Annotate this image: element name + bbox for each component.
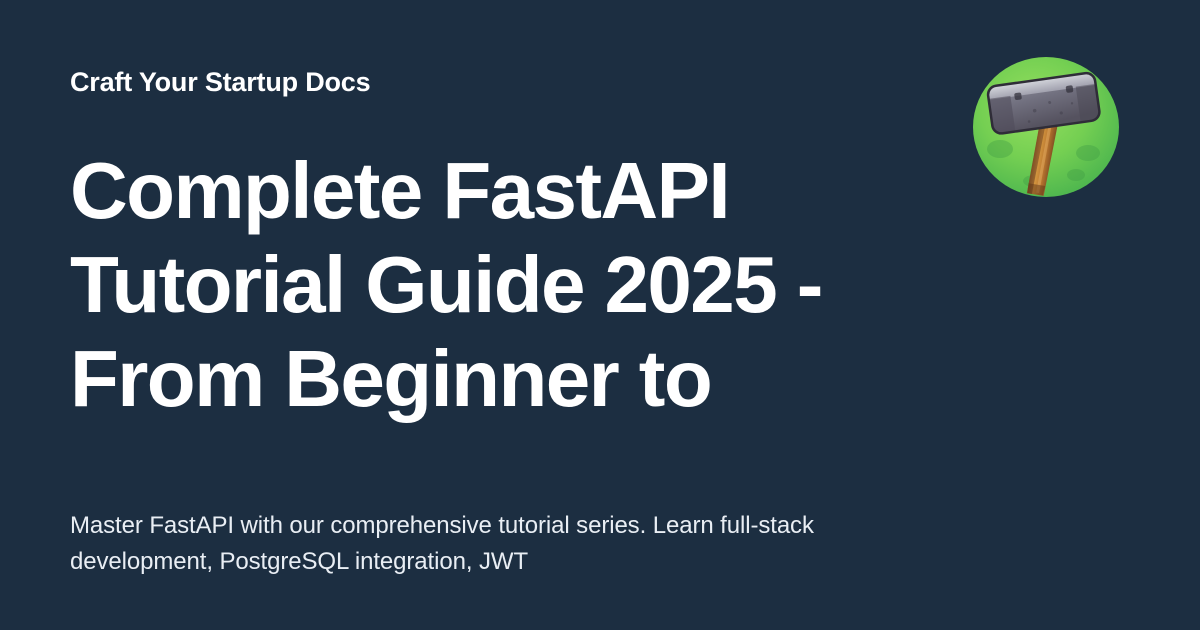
site-name: Craft Your Startup Docs bbox=[70, 64, 1130, 98]
page-description: Master FastAPI with our comprehensive tu… bbox=[70, 508, 870, 581]
og-preview-card: Craft Your Startup Docs Complete FastAPI… bbox=[0, 0, 1200, 630]
logo bbox=[972, 57, 1120, 198]
description-block: Master FastAPI with our comprehensive tu… bbox=[70, 508, 870, 581]
page-title: Complete FastAPI Tutorial Guide 2025 - F… bbox=[70, 144, 930, 427]
headline-block: Complete FastAPI Tutorial Guide 2025 - F… bbox=[70, 144, 930, 427]
hammer-icon bbox=[972, 57, 1120, 198]
